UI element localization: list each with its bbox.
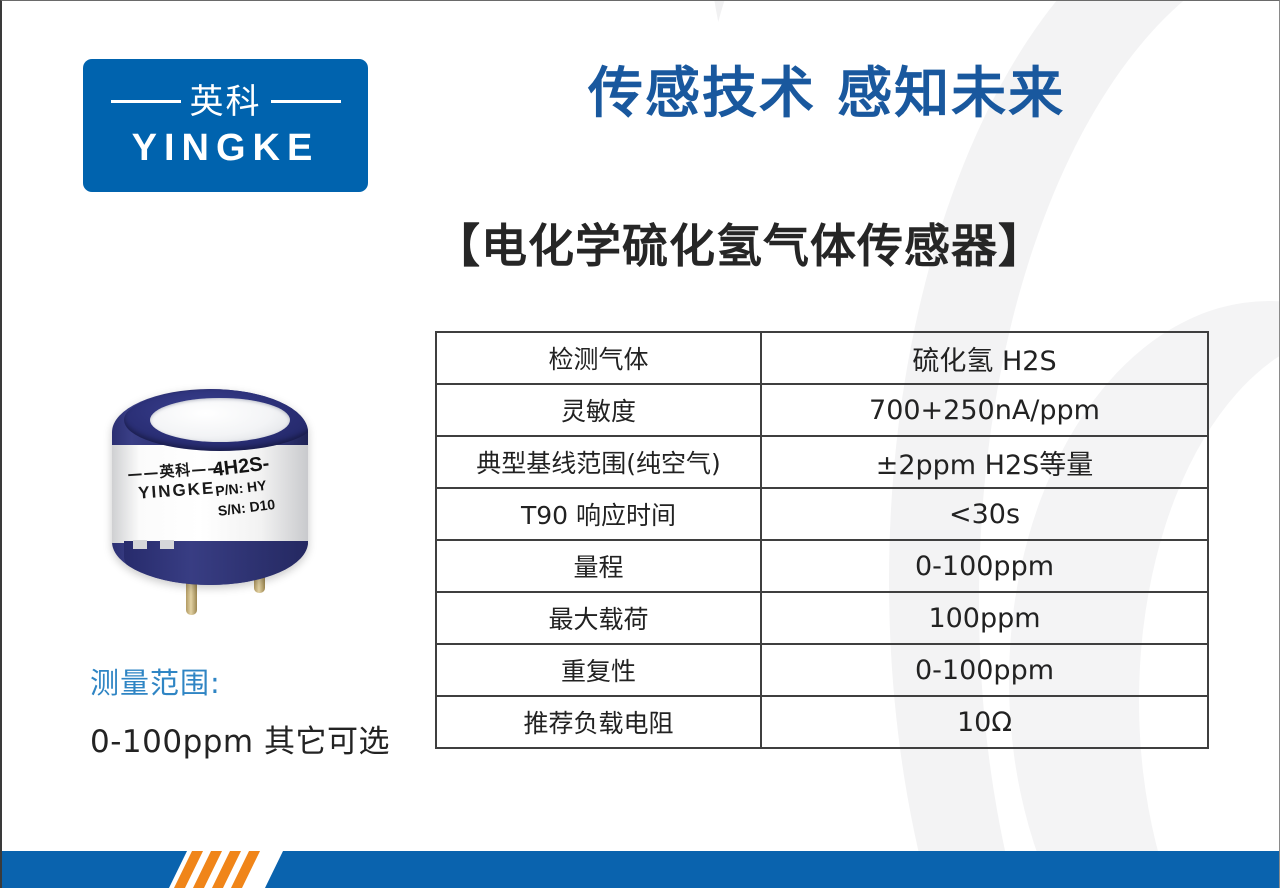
spec-key-cell: T90 响应时间 (436, 488, 761, 540)
swoosh-shape-1 (709, 1, 1279, 381)
sensor-label-band: ——英科—— YINGKE 4H2S- P/N: HY S/N: D10 (112, 445, 308, 543)
spec-value-cell: 硫化氢 H2S (761, 332, 1208, 384)
table-row: 量程0-100ppm (436, 540, 1208, 592)
sensor-label-codes: 4H2S- P/N: HY S/N: D10 (212, 449, 303, 521)
spec-key-cell: 灵敏度 (436, 384, 761, 436)
sensor-notch-2 (160, 540, 174, 549)
table-row: 检测气体硫化氢 H2S (436, 332, 1208, 384)
spec-value-cell: 700+250nA/ppm (761, 384, 1208, 436)
logo-top-row: 英科 (111, 85, 341, 119)
logo-english-name: YINGKE (132, 129, 320, 167)
spec-value-cell: 0-100ppm (761, 540, 1208, 592)
table-row: 灵敏度700+250nA/ppm (436, 384, 1208, 436)
spec-key-cell: 重复性 (436, 644, 761, 696)
sensor-body: ——英科—— YINGKE 4H2S- P/N: HY S/N: D10 (112, 389, 308, 585)
sensor-label-brand: ——英科—— YINGKE (127, 457, 226, 505)
sensor-notch-1 (133, 540, 147, 549)
table-row: 推荐负载电阻10Ω (436, 696, 1208, 748)
spec-key-cell: 推荐负载电阻 (436, 696, 761, 748)
sensor-top-ring (124, 389, 308, 451)
spec-value-cell: ±2ppm H2S等量 (761, 436, 1208, 488)
footer-bar (2, 851, 1279, 888)
company-logo: 英科 YINGKE (83, 59, 368, 192)
spec-value-cell: 100ppm (761, 592, 1208, 644)
product-poster: 英科 YINGKE 传感技术 感知未来 【电化学硫化氢气体传感器】 ——英科——… (0, 0, 1280, 888)
measurement-range-label: 测量范围: (90, 660, 221, 702)
logo-rule-right-icon (271, 100, 341, 103)
sensor-product-image: ——英科—— YINGKE 4H2S- P/N: HY S/N: D10 (102, 383, 342, 633)
spec-key-cell: 检测气体 (436, 332, 761, 384)
table-row: 重复性0-100ppm (436, 644, 1208, 696)
table-row: T90 响应时间<30s (436, 488, 1208, 540)
specification-table: 检测气体硫化氢 H2S灵敏度700+250nA/ppm典型基线范围(纯空气)±2… (435, 331, 1209, 749)
specification-table-body: 检测气体硫化氢 H2S灵敏度700+250nA/ppm典型基线范围(纯空气)±2… (436, 332, 1208, 748)
sensor-base-ring (124, 541, 308, 585)
spec-key-cell: 量程 (436, 540, 761, 592)
spec-value-cell: 0-100ppm (761, 644, 1208, 696)
page-title: 【电化学硫化氢气体传感器】 (434, 220, 1045, 273)
brand-tagline: 传感技术 感知未来 (588, 63, 1065, 124)
measurement-range-value: 0-100ppm 其它可选 (90, 716, 390, 761)
spec-key-cell: 最大载荷 (436, 592, 761, 644)
logo-rule-left-icon (111, 100, 181, 103)
spec-value-cell: <30s (761, 488, 1208, 540)
spec-key-cell: 典型基线范围(纯空气) (436, 436, 761, 488)
spec-value-cell: 10Ω (761, 696, 1208, 748)
table-row: 典型基线范围(纯空气)±2ppm H2S等量 (436, 436, 1208, 488)
sensor-membrane (150, 398, 290, 442)
footer-stripe-group (169, 851, 283, 888)
table-row: 最大载荷100ppm (436, 592, 1208, 644)
logo-chinese-name: 英科 (190, 85, 262, 119)
